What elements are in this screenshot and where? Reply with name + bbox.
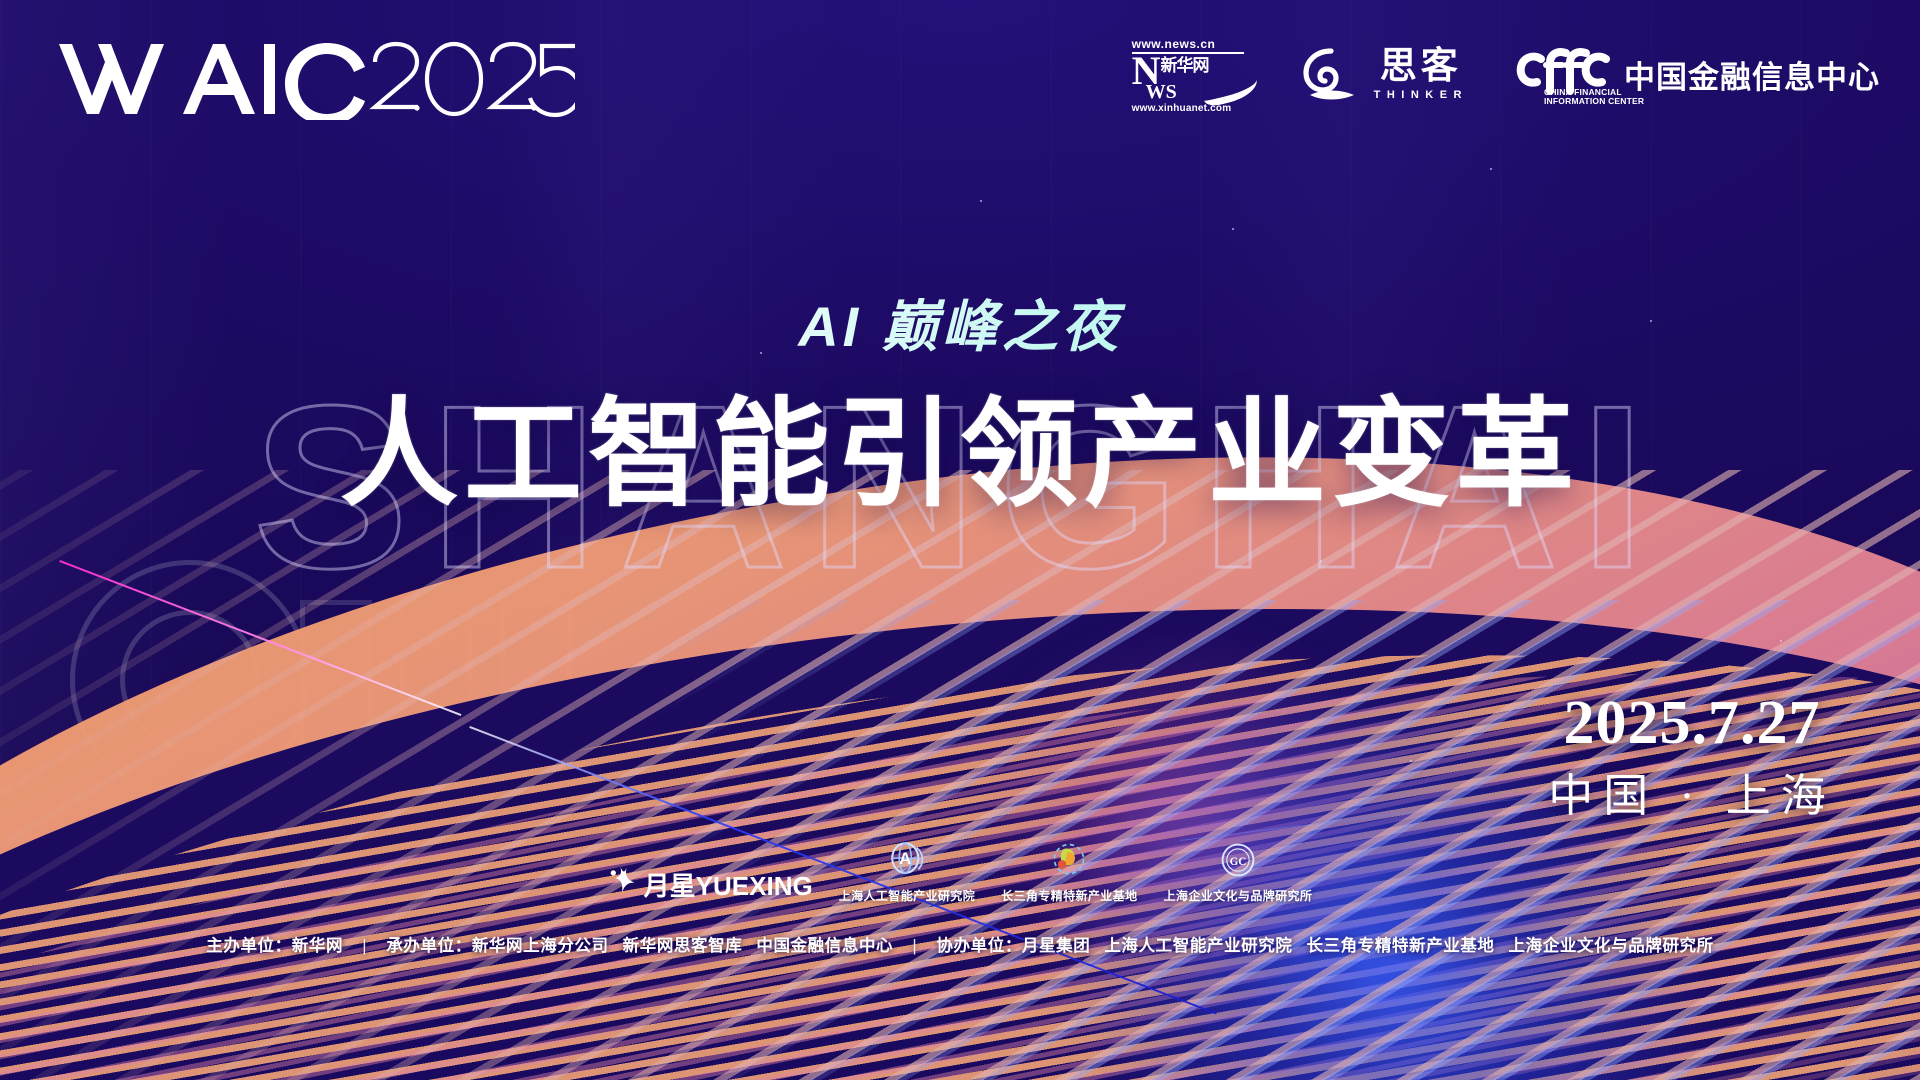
sponsor-saiir-name: 上海人工智能产业研究院 <box>839 887 975 904</box>
credits-coorganizer-1: 月星集团 <box>1022 937 1090 955</box>
sponsor-cbci-name: 上海企业文化与品牌研究所 <box>1164 887 1313 904</box>
credits-separator-1: | <box>348 937 381 956</box>
cfic-name-cn: 中国金融信息中心 <box>1624 52 1880 97</box>
yuexing-star-icon <box>608 865 638 900</box>
event-date: 2025.7.27 <box>1542 692 1842 754</box>
poster-canvas: SHANGHAI <box>0 0 1920 1080</box>
sponsor-logo-strip: 月星YUEXING A 上海人工智能产业研究院 <box>0 840 1920 904</box>
credits-coorganizer-3: 长三角专精特新产业基地 <box>1306 937 1494 955</box>
waic-logo <box>55 38 575 120</box>
thinker-spiral-icon <box>1300 45 1362 103</box>
svg-text:GC: GC <box>1230 856 1247 868</box>
thinker-name-en: THINKER <box>1374 90 1468 101</box>
cfic-name-en: CHINA FINANCIAL INFORMATION CENTER <box>1544 88 1644 107</box>
credits-coorganizer-4: 上海企业文化与品牌研究所 <box>1509 937 1714 955</box>
event-subtitle: AI 巅峰之夜 <box>0 282 1920 363</box>
sponsor-yuexing-name: 月星YUEXING <box>644 866 813 903</box>
xinhuanet-logo: www.news.cn N 新华网 WS www.xinhuanet.com <box>1132 37 1254 111</box>
thinker-name-cn: 思客 <box>1380 48 1462 85</box>
credits-host-value: 新华网 <box>292 937 343 955</box>
event-date-block: 2025.7.27 中国 · 上海 <box>1542 692 1842 819</box>
credits-host-label: 主办单位： <box>206 937 292 955</box>
partner-logo-group: www.news.cn N 新华网 WS www.xinhuanet.com <box>1132 36 1880 112</box>
cfic-monogram-icon: CHINA FINANCIAL INFORMATION CENTER <box>1514 45 1610 103</box>
saiir-globe-icon: A <box>887 840 927 883</box>
sponsor-yrd-base: 长三角专精特新产业基地 <box>1001 842 1137 904</box>
sponsor-yrd-base-name: 长三角专精特新产业基地 <box>1001 887 1137 904</box>
credits-organizer-label: 承办单位： <box>386 937 472 955</box>
sponsor-saiir: A 上海人工智能产业研究院 <box>839 840 975 904</box>
thinker-logo: 思客 THINKER <box>1300 45 1468 103</box>
xinhua-url-bottom: www.xinhuanet.com <box>1132 103 1232 114</box>
credits-coorganizer-2: 上海人工智能产业研究院 <box>1104 937 1292 955</box>
xinhua-ws-glyph: WS <box>1146 82 1177 102</box>
credits-coorganizer-label: 协办单位： <box>936 937 1022 955</box>
credits-organizer-3: 中国金融信息中心 <box>756 937 893 955</box>
cfic-logo: CHINA FINANCIAL INFORMATION CENTER 中国金融信… <box>1514 45 1880 103</box>
event-location: 中国 · 上海 <box>1542 774 1842 819</box>
credits-separator-2: | <box>898 937 931 956</box>
xinhua-name-cn: 新华网 <box>1161 55 1209 74</box>
credits-organizer-2: 新华网思客智库 <box>623 937 743 955</box>
credits-organizer-1: 新华网上海分公司 <box>472 937 609 955</box>
cbci-seal-icon: GC <box>1220 842 1256 883</box>
event-headline: 人工智能引领产业变革 <box>0 358 1920 529</box>
sponsor-yuexing: 月星YUEXING <box>608 865 813 904</box>
credits-line: 主办单位：新华网 | 承办单位：新华网上海分公司新华网思客智库中国金融信息中心 … <box>0 932 1920 956</box>
sponsor-cbci: GC 上海企业文化与品牌研究所 <box>1164 842 1313 904</box>
poster-header: www.news.cn N 新华网 WS www.xinhuanet.com <box>0 0 1920 140</box>
svg-text:A: A <box>899 849 911 868</box>
yrd-base-icon <box>1050 842 1088 883</box>
